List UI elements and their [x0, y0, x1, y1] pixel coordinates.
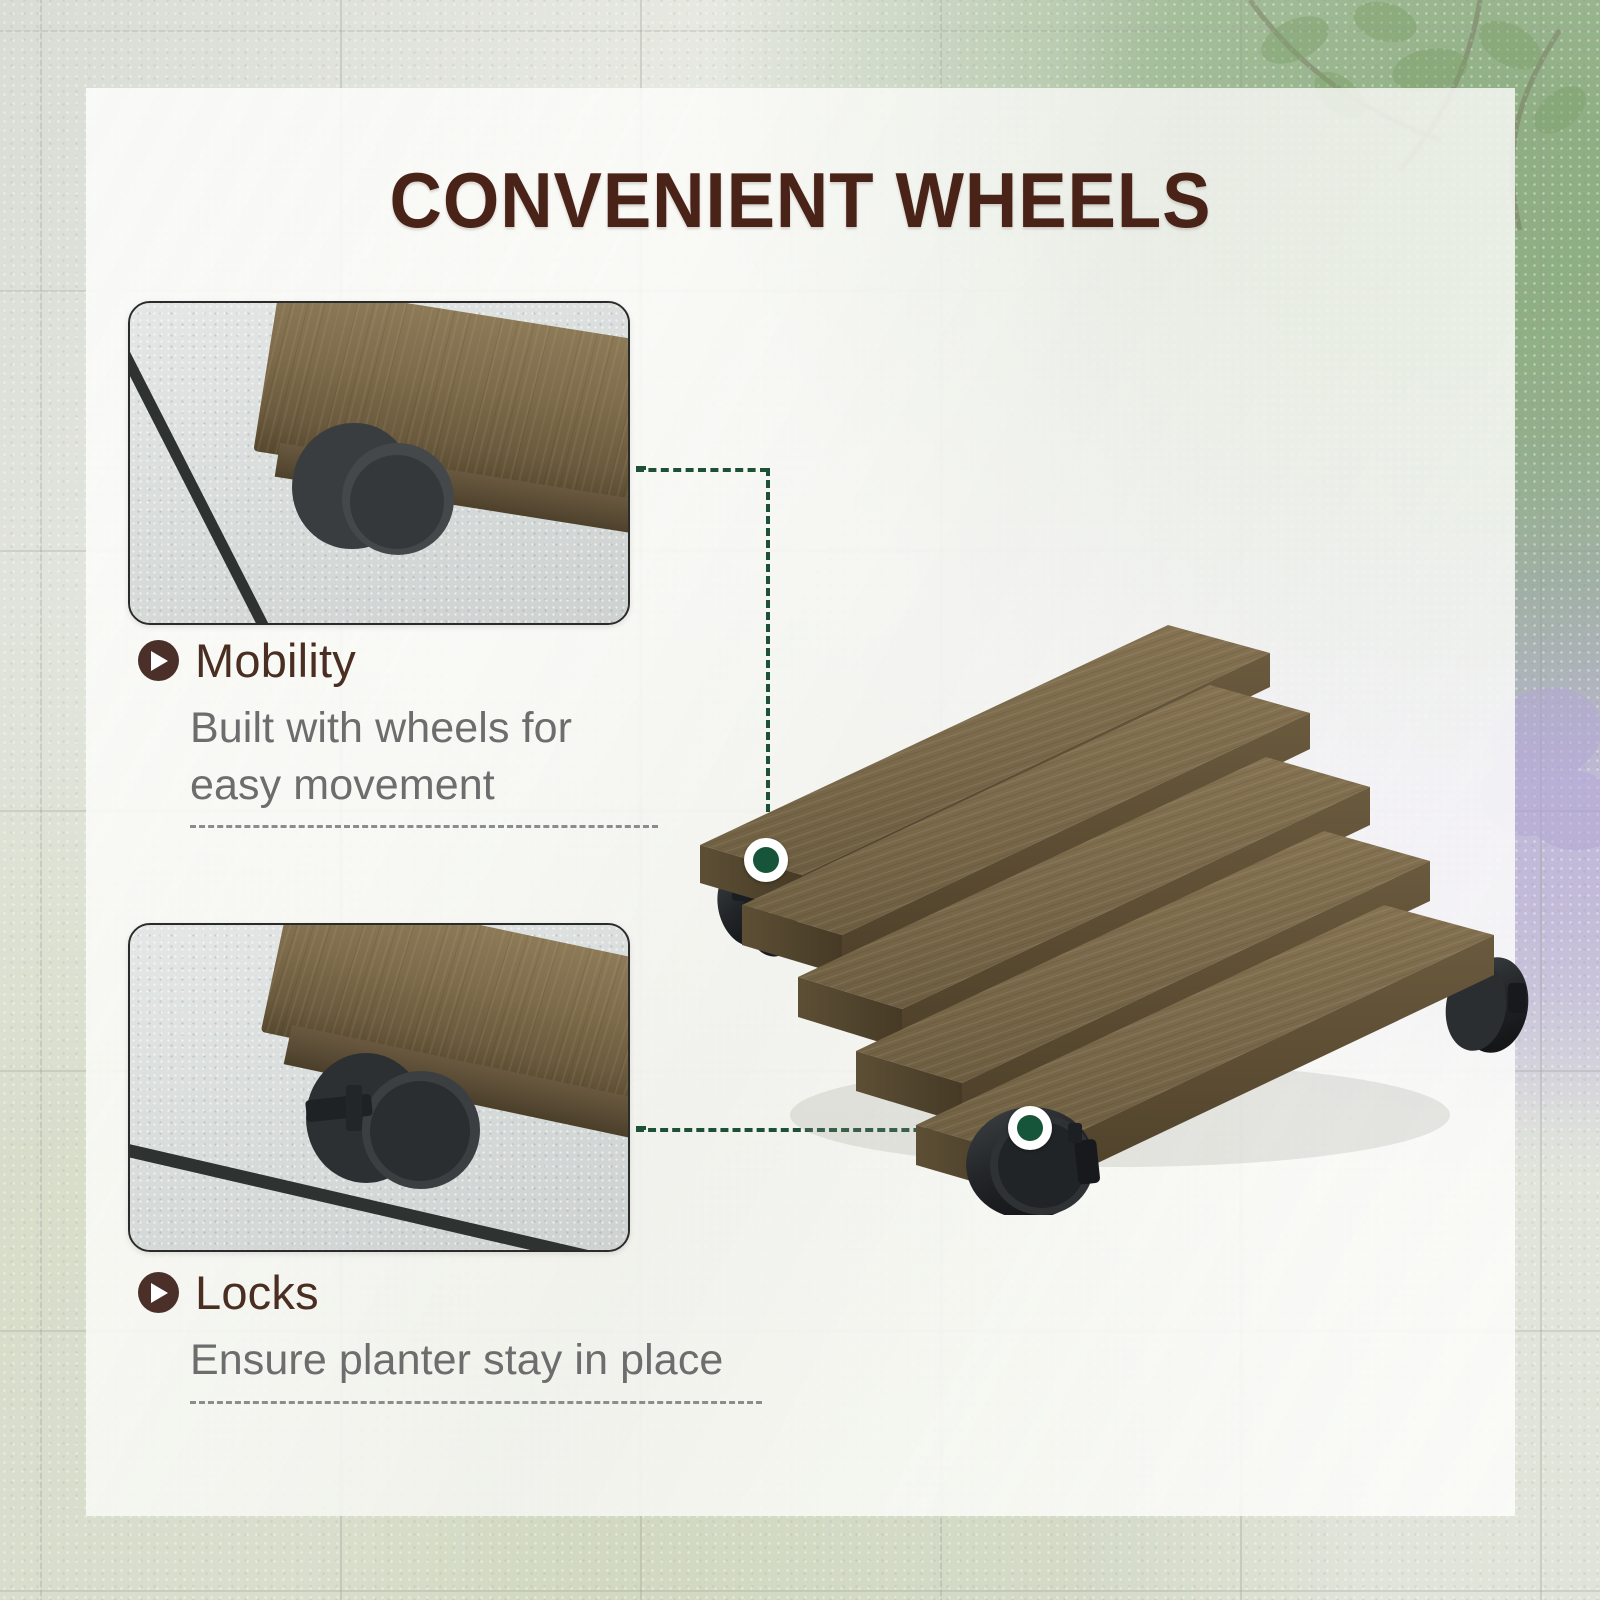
marker-wheel-mobility: [744, 838, 788, 882]
marker-dot: [753, 847, 779, 873]
photo-card-locks: [128, 923, 630, 1252]
play-circle-icon: [138, 1272, 179, 1313]
caster-wheel-rim-photo: [350, 455, 444, 549]
marker-dot: [1017, 1115, 1043, 1141]
feature-body-mobility: Built with wheels for easy movement: [190, 700, 668, 814]
feature-body-locks: Ensure planter stay in place: [190, 1332, 778, 1389]
caster-brake-tab-photo: [346, 1085, 362, 1131]
feature-heading-mobility: Mobility: [138, 636, 668, 686]
connector-locks-start-cap: [636, 1126, 646, 1130]
feature-divider-mobility: [190, 825, 658, 828]
feature-title-locks: Locks: [195, 1268, 319, 1318]
caster-brake-lever: [1074, 1139, 1100, 1185]
feature-block-locks: Locks Ensure planter stay in place: [138, 1268, 778, 1404]
page-title: CONVENIENT WHEELS: [136, 155, 1465, 246]
connector-mobility-start-cap: [636, 466, 646, 470]
feature-block-mobility: Mobility Built with wheels for easy move…: [138, 636, 668, 828]
play-circle-icon: [138, 640, 179, 681]
marker-wheel-locks: [1008, 1106, 1052, 1150]
feature-heading-locks: Locks: [138, 1268, 778, 1318]
infographic-canvas: CONVENIENT WHEELS Mobility Built with wh…: [0, 0, 1600, 1600]
caster-wheel-rim-photo: [370, 1081, 470, 1181]
feature-title-mobility: Mobility: [195, 636, 356, 686]
photo-card-mobility: [128, 301, 630, 625]
product-image-plant-caddy: [670, 575, 1550, 1215]
feature-divider-locks: [190, 1401, 762, 1404]
